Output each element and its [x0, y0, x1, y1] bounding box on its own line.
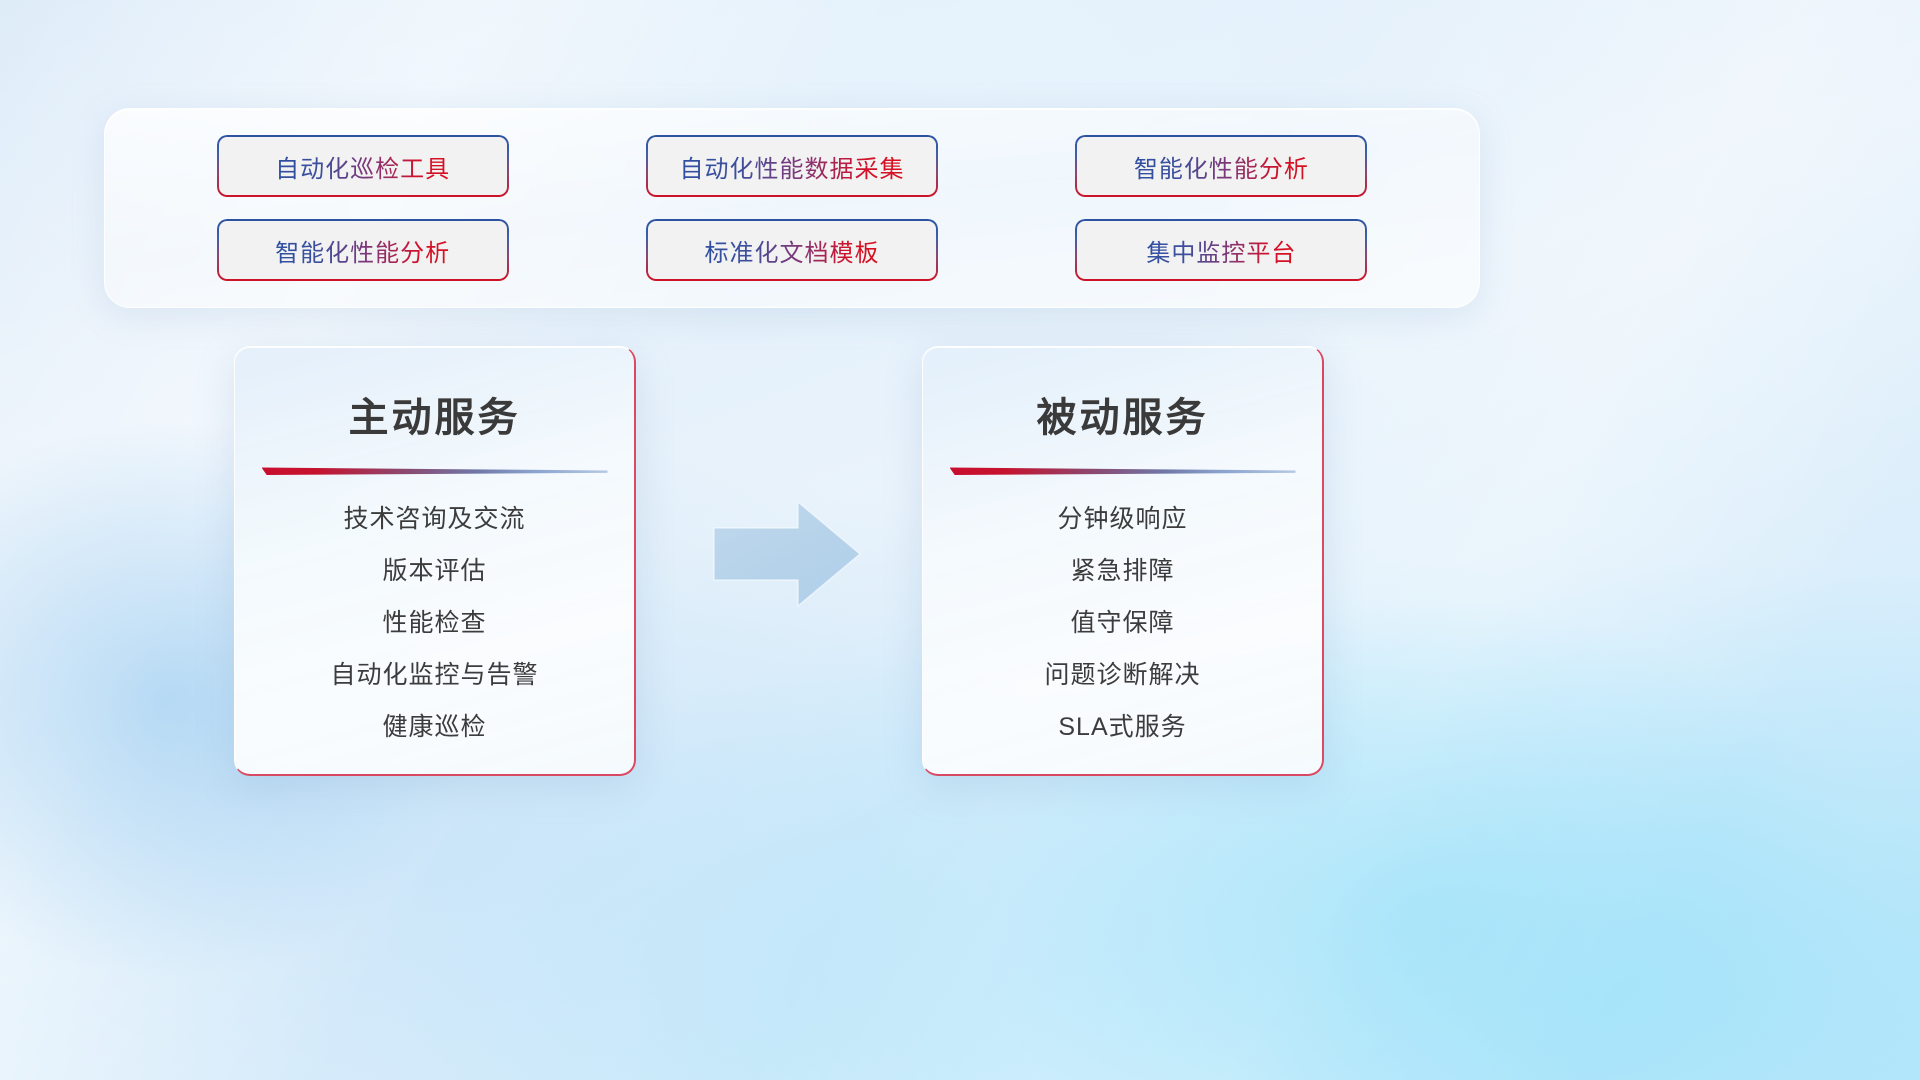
card-title-divider	[950, 463, 1296, 475]
card-title-divider	[262, 463, 608, 475]
capability-pill-label: 智能化性能分析	[275, 233, 450, 268]
list-item: 紧急排障	[1070, 551, 1174, 587]
card-item-list: 技术咨询及交流 版本评估 性能检查 自动化监控与告警 健康巡检	[261, 499, 608, 743]
capability-pill-label: 自动化性能数据采集	[679, 149, 904, 184]
service-card-proactive: 主动服务 技术咨询及交流 版本评估 性能检查 自动化监控与告警 健康巡检	[234, 346, 636, 776]
list-item: 版本评估	[382, 551, 486, 587]
capability-bar: 自动化巡检工具 自动化性能数据采集 智能化性能分析 智能化性能分析 标准化文档模…	[104, 108, 1480, 308]
capability-pill-1[interactable]: 自动化巡检工具	[217, 135, 509, 197]
card-title: 主动服务	[349, 385, 521, 443]
list-item: 技术咨询及交流	[343, 499, 525, 535]
service-card-reactive: 被动服务 分钟级响应 紧急排障 值守保障 问题诊断解决 SLA式服务	[922, 346, 1324, 776]
list-item: 分钟级响应	[1057, 499, 1187, 535]
list-item: 健康巡检	[382, 707, 486, 743]
list-item: 问题诊断解决	[1044, 655, 1200, 691]
card-title: 被动服务	[1037, 385, 1209, 443]
capability-pill-label: 自动化巡检工具	[275, 149, 450, 184]
list-item: SLA式服务	[1058, 707, 1186, 743]
arrow-right-icon	[712, 500, 862, 608]
capability-pill-label: 标准化文档模板	[704, 233, 879, 268]
capability-pill-5[interactable]: 标准化文档模板	[646, 219, 938, 281]
diagram-canvas: 自动化巡检工具 自动化性能数据采集 智能化性能分析 智能化性能分析 标准化文档模…	[0, 0, 1920, 1080]
capability-pill-6[interactable]: 集中监控平台	[1075, 219, 1367, 281]
capability-pill-2[interactable]: 自动化性能数据采集	[646, 135, 938, 197]
capability-pill-label: 集中监控平台	[1146, 233, 1296, 268]
capability-pill-label: 智能化性能分析	[1134, 149, 1309, 184]
list-item: 值守保障	[1070, 603, 1174, 639]
list-item: 性能检查	[382, 603, 486, 639]
list-item: 自动化监控与告警	[330, 655, 538, 691]
capability-pill-3[interactable]: 智能化性能分析	[1075, 135, 1367, 197]
capability-pill-4[interactable]: 智能化性能分析	[217, 219, 509, 281]
card-item-list: 分钟级响应 紧急排障 值守保障 问题诊断解决 SLA式服务	[949, 499, 1296, 743]
